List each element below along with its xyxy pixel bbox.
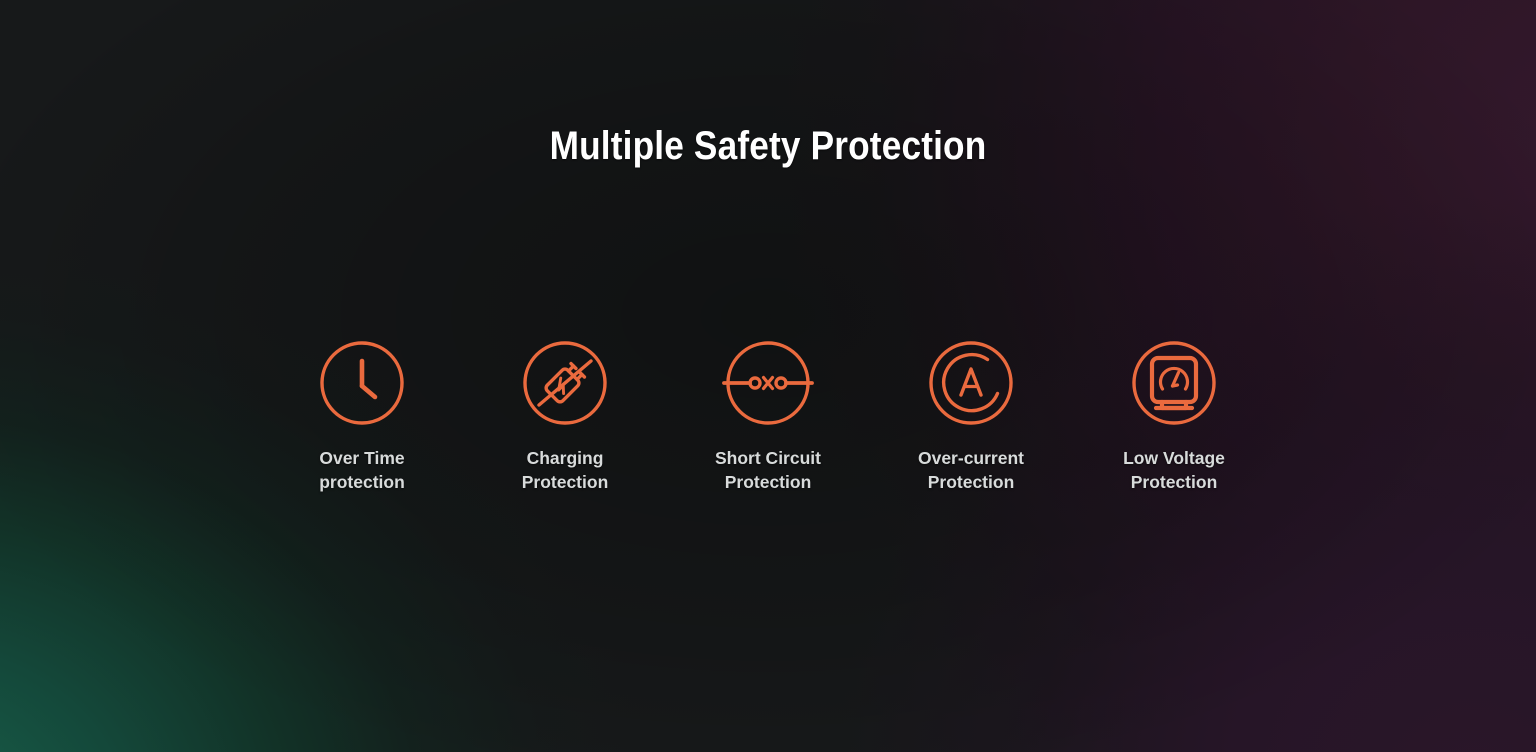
feature-label-over-current: Over-current Protection bbox=[918, 446, 1024, 494]
voltage-meter-icon bbox=[1129, 338, 1219, 428]
clock-icon bbox=[317, 338, 407, 428]
feature-label-over-time: Over Time protection bbox=[319, 446, 405, 494]
no-charging-plug-icon bbox=[520, 338, 610, 428]
feature-list: Over Time protection bbox=[0, 338, 1536, 494]
short-circuit-icon bbox=[723, 338, 813, 428]
content-root: Multiple Safety Protection Over Time pro… bbox=[0, 0, 1536, 752]
feature-item-over-current: Over-current Protection bbox=[870, 338, 1073, 494]
feature-item-short-circuit: Short Circuit Protection bbox=[667, 338, 870, 494]
feature-item-over-time: Over Time protection bbox=[261, 338, 464, 494]
feature-item-low-voltage: Low Voltage Protection bbox=[1073, 338, 1276, 494]
feature-label-short-circuit: Short Circuit Protection bbox=[715, 446, 821, 494]
page-title: Multiple Safety Protection bbox=[92, 124, 1444, 169]
feature-label-low-voltage: Low Voltage Protection bbox=[1123, 446, 1225, 494]
feature-label-charging: Charging Protection bbox=[522, 446, 609, 494]
feature-item-charging: Charging Protection bbox=[464, 338, 667, 494]
ampere-circle-icon bbox=[926, 338, 1016, 428]
